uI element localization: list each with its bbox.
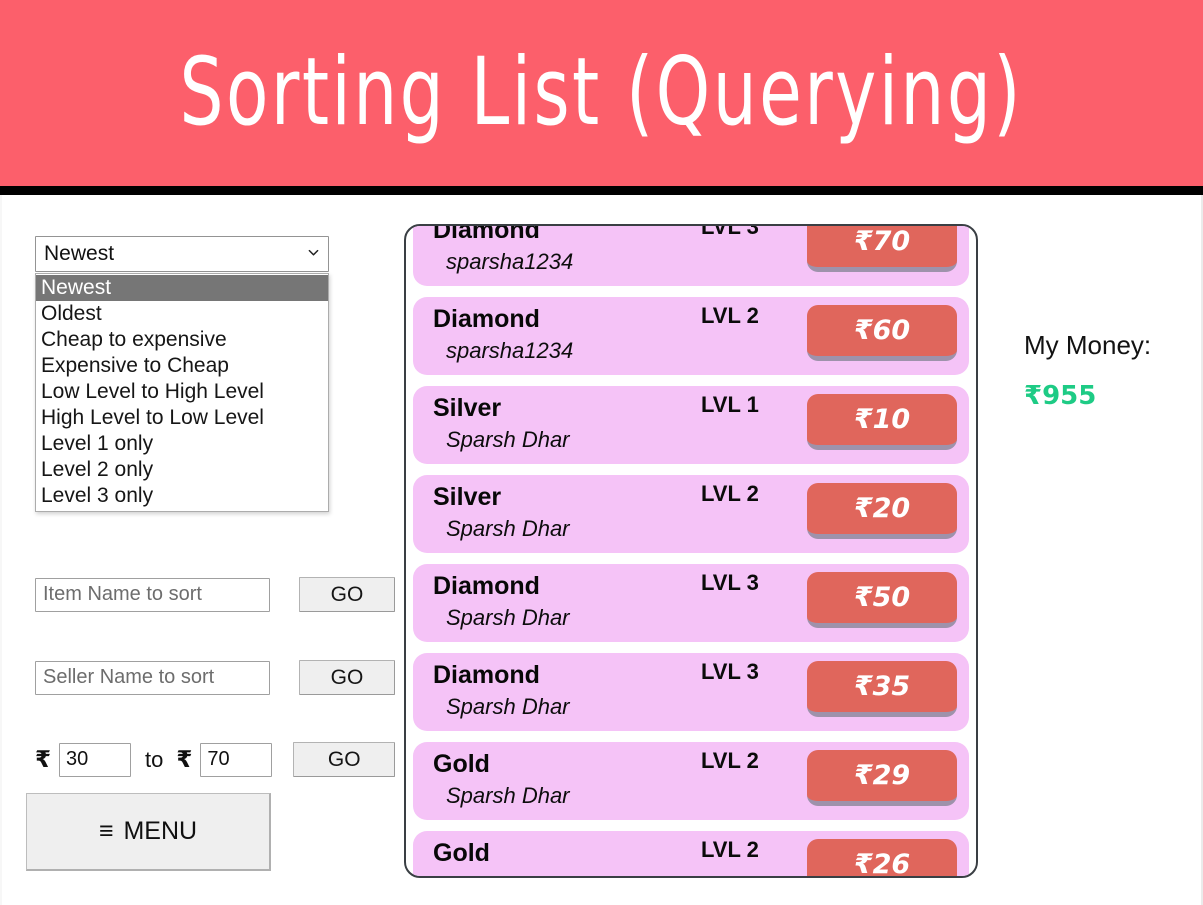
item-seller-label: Sparsh Dhar [446, 694, 570, 720]
list-item[interactable]: Gold Sparsh Dhar LVL 2 ₹29 [413, 742, 969, 820]
sort-option-level-1-only[interactable]: Level 1 only [36, 431, 328, 457]
price-max-input[interactable] [200, 743, 272, 777]
sort-options-dropdown[interactable]: Newest Oldest Cheap to expensive Expensi… [35, 273, 329, 512]
list-item[interactable]: Diamond sparsha1234 LVL 3 ₹70 [413, 224, 969, 286]
header-divider-rule [0, 186, 1203, 195]
item-level-label: LVL 2 [701, 748, 759, 774]
filter-controls-panel: Newest Newest Oldest Cheap to expensive … [35, 236, 395, 777]
item-name-input[interactable] [35, 578, 270, 612]
menu-button[interactable]: ≡ MENU [26, 793, 271, 871]
item-name-label: Silver [433, 483, 501, 512]
item-price-button[interactable]: ₹29 [807, 750, 957, 806]
item-price-button[interactable]: ₹35 [807, 661, 957, 717]
list-item[interactable]: Diamond sparsha1234 LVL 2 ₹60 [413, 297, 969, 375]
sort-option-level-3-only[interactable]: Level 3 only [36, 483, 328, 509]
item-price-button[interactable]: ₹10 [807, 394, 957, 450]
sort-option-expensive-to-cheap[interactable]: Expensive to Cheap [36, 353, 328, 379]
item-level-label: LVL 3 [701, 570, 759, 596]
sort-option-newest[interactable]: Newest [36, 275, 328, 301]
sort-select-wrapper: Newest Newest Oldest Cheap to expensive … [35, 236, 329, 272]
item-name-label: Diamond [433, 572, 540, 601]
my-money-amount: ₹955 [1024, 381, 1194, 411]
item-list-scroll: Diamond sparsha1234 LVL 3 ₹70 Diamond sp… [406, 224, 976, 878]
page-title: Sorting List (Querying) [180, 46, 1023, 140]
item-price-button[interactable]: ₹26 [807, 839, 957, 878]
item-level-label: LVL 3 [701, 659, 759, 685]
item-level-label: LVL 2 [701, 481, 759, 507]
sort-option-high-to-low-level[interactable]: High Level to Low Level [36, 405, 328, 431]
item-name-label: Diamond [433, 661, 540, 690]
list-item[interactable]: Silver Sparsh Dhar LVL 2 ₹20 [413, 475, 969, 553]
item-level-label: LVL 3 [701, 224, 759, 240]
sort-option-low-to-high-level[interactable]: Low Level to High Level [36, 379, 328, 405]
item-price-button[interactable]: ₹60 [807, 305, 957, 361]
item-seller-label: Sparsh Dhar [446, 872, 570, 878]
item-list-container[interactable]: Diamond sparsha1234 LVL 3 ₹70 Diamond sp… [404, 224, 978, 878]
item-price-button[interactable]: ₹20 [807, 483, 957, 539]
sort-select-value: Newest [44, 242, 114, 266]
item-seller-label: Sparsh Dhar [446, 783, 570, 809]
price-range-go-button[interactable]: GO [293, 742, 395, 777]
item-name-label: Silver [433, 394, 501, 423]
page-body: Newest Newest Oldest Cheap to expensive … [0, 195, 1203, 905]
list-item[interactable]: Gold Sparsh Dhar LVL 2 ₹26 [413, 831, 969, 878]
item-name-label: Diamond [433, 224, 540, 245]
item-seller-label: sparsha1234 [446, 338, 573, 364]
price-range-filter-row: ₹ to ₹ GO [35, 742, 395, 777]
seller-name-go-button[interactable]: GO [299, 660, 395, 695]
list-item[interactable]: Diamond Sparsh Dhar LVL 3 ₹50 [413, 564, 969, 642]
seller-name-input[interactable] [35, 661, 270, 695]
item-seller-label: Sparsh Dhar [446, 427, 570, 453]
sort-select[interactable]: Newest [35, 236, 329, 272]
price-range-separator: to [145, 747, 163, 773]
seller-name-filter-row: GO [35, 660, 395, 695]
list-item[interactable]: Silver Sparsh Dhar LVL 1 ₹10 [413, 386, 969, 464]
sort-option-oldest[interactable]: Oldest [36, 301, 328, 327]
item-level-label: LVL 2 [701, 837, 759, 863]
item-price-button[interactable]: ₹70 [807, 224, 957, 272]
page-header-banner: Sorting List (Querying) [0, 0, 1203, 186]
item-price-button[interactable]: ₹50 [807, 572, 957, 628]
menu-button-label: MENU [123, 817, 197, 846]
item-name-filter-row: GO [35, 577, 395, 612]
item-seller-label: Sparsh Dhar [446, 516, 570, 542]
sort-option-level-2-only[interactable]: Level 2 only [36, 457, 328, 483]
list-item[interactable]: Diamond Sparsh Dhar LVL 3 ₹35 [413, 653, 969, 731]
item-name-label: Gold [433, 839, 490, 868]
rupee-icon-min: ₹ [35, 747, 51, 773]
item-name-go-button[interactable]: GO [299, 577, 395, 612]
item-name-label: Diamond [433, 305, 540, 334]
my-money-label: My Money: [1024, 330, 1194, 361]
item-level-label: LVL 2 [701, 303, 759, 329]
my-money-panel: My Money: ₹955 [1024, 330, 1194, 411]
item-seller-label: sparsha1234 [446, 249, 573, 275]
item-name-label: Gold [433, 750, 490, 779]
item-level-label: LVL 1 [701, 392, 759, 418]
price-min-input[interactable] [59, 743, 131, 777]
sort-option-cheap-to-expensive[interactable]: Cheap to expensive [36, 327, 328, 353]
rupee-icon-max: ₹ [176, 747, 192, 773]
hamburger-icon: ≡ [99, 819, 114, 844]
item-seller-label: Sparsh Dhar [446, 605, 570, 631]
